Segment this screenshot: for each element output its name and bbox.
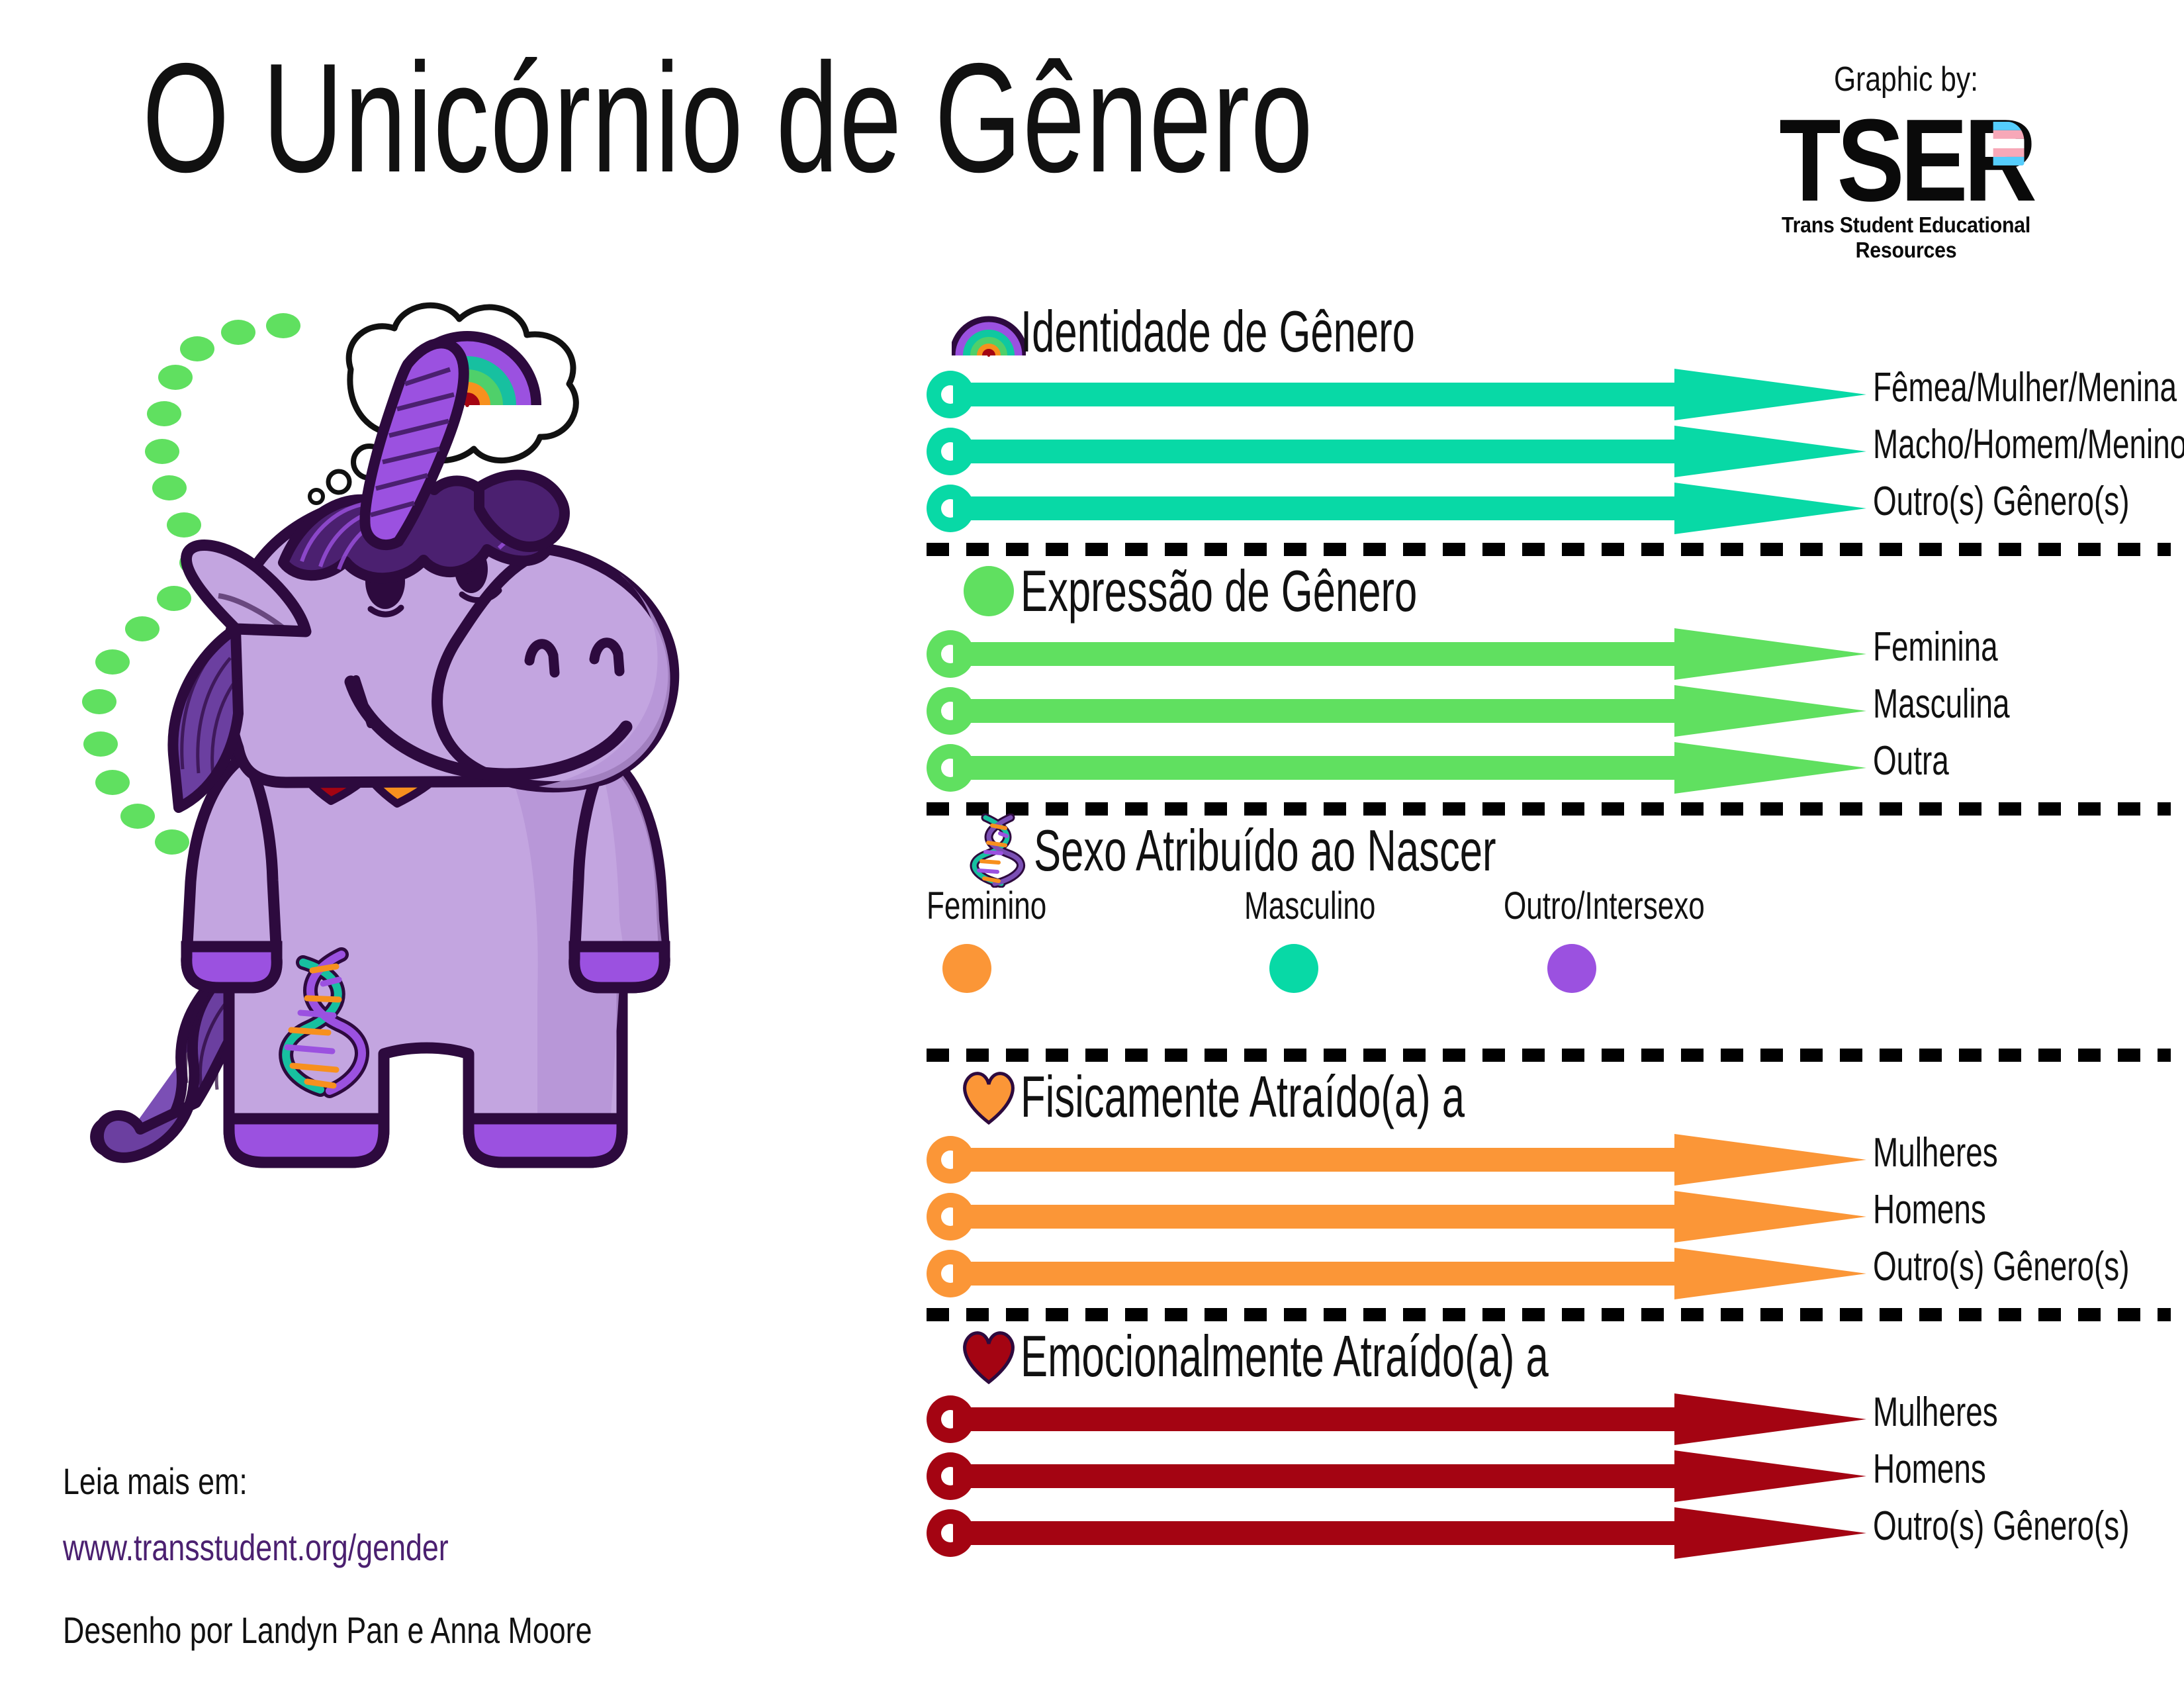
spectrum-rows: Fêmea/Mulher/Menina Macho/Homem/Menino O… [927, 366, 2171, 537]
sex-option-label: Masculino [1244, 884, 1375, 928]
sex-option-dot[interactable] [942, 944, 991, 993]
section-header: Emocionalmente Atraído(a) a [952, 1326, 2171, 1387]
orange-heart-icon [952, 1068, 1026, 1125]
spectrum-arrow[interactable] [927, 739, 1866, 796]
arrow-head-icon [1674, 1393, 1866, 1445]
spectrum-row[interactable]: Outro(s) Gênero(s) [927, 1245, 2171, 1302]
arrow-head-icon [1674, 426, 1866, 477]
section-title: Emocionalmente Atraído(a) a [1021, 1327, 1549, 1385]
graphic-by-label: Graphic by: [1765, 60, 2047, 99]
arrow-head-icon [1674, 1134, 1866, 1186]
section-sex-assigned-at-birth: Sexo Atribuído ao Nascer Feminino Mascul… [927, 820, 2171, 1043]
spectrum-arrow[interactable] [927, 1448, 1866, 1505]
section-header: Sexo Atribuído ao Nascer [966, 820, 2171, 881]
arrow-head-icon [1674, 628, 1866, 680]
sex-option-feminino[interactable]: Feminino [927, 884, 1085, 993]
spectrum-label: Homens [1873, 1446, 1986, 1493]
spectrum-arrow[interactable] [927, 1391, 1866, 1448]
arrow-shaft [953, 756, 1680, 780]
spectrum-row[interactable]: Macho/Homem/Menino [927, 423, 2171, 480]
sex-option-masculino[interactable]: Masculino [1244, 884, 1417, 993]
spectrum-arrow[interactable] [927, 1505, 1866, 1562]
sex-option-dot[interactable] [1269, 944, 1318, 993]
arrow-head-icon [1674, 1191, 1866, 1243]
spectrum-rows: Mulheres Homens Outro(s) Gênero(s) [927, 1391, 2171, 1562]
spectrum-label: Feminina [1873, 624, 1998, 671]
sex-option-dot[interactable] [1547, 944, 1596, 993]
section-title: Sexo Atribuído ao Nascer [1034, 821, 1496, 880]
section-divider [927, 802, 2171, 816]
section-title: Expressão de Gênero [1021, 562, 1417, 620]
arrow-shaft [953, 699, 1680, 723]
spectrum-row[interactable]: Homens [927, 1448, 2171, 1505]
spectrum-arrow[interactable] [927, 626, 1866, 682]
spectrum-arrow[interactable] [927, 1245, 1866, 1302]
spectrum-arrow[interactable] [927, 1131, 1866, 1188]
section-gender-expression: Expressão de Gênero Feminina Masculina [927, 561, 2171, 796]
spectrum-label: Macho/Homem/Menino [1873, 421, 2184, 468]
arrow-head-icon [1674, 483, 1866, 534]
dna-icon [966, 814, 1030, 888]
spectrum-label: Masculina [1873, 680, 2010, 727]
arrow-shaft [953, 1521, 1680, 1545]
artist-credit: Desenho por Landyn Pan e Anna Moore [63, 1609, 592, 1652]
arrow-shaft [953, 1205, 1680, 1229]
spectrum-row[interactable]: Outro(s) Gênero(s) [927, 1505, 2171, 1562]
arrow-head-icon [1674, 1507, 1866, 1559]
arrow-head-icon [1674, 742, 1866, 794]
sex-option-label: Outro/Intersexo [1504, 884, 1705, 928]
section-header: Expressão de Gênero [952, 561, 2171, 622]
spectrum-row[interactable]: Fêmea/Mulher/Menina [927, 366, 2171, 423]
rainbow-icon [952, 305, 1026, 358]
spectrum-label: Mulheres [1873, 1129, 1998, 1176]
arrow-shaft [953, 1148, 1680, 1172]
spectrum-arrow[interactable] [927, 682, 1866, 739]
section-emotionally-attracted-to: Emocionalmente Atraído(a) a Mulheres Hom… [927, 1326, 2171, 1562]
arrow-shaft [953, 642, 1680, 666]
spectrum-label: Outro(s) Gênero(s) [1873, 1503, 2130, 1550]
arrow-head-icon [1674, 1450, 1866, 1502]
trans-flag-icon [1993, 122, 2025, 165]
section-divider [927, 1048, 2171, 1062]
spectrum-arrow[interactable] [927, 1188, 1866, 1245]
spectrum-row[interactable]: Homens [927, 1188, 2171, 1245]
page-title: O Unicórnio de Gênero [142, 40, 1314, 195]
arrow-head-icon [1674, 685, 1866, 737]
spectrum-rows: Feminina Masculina Outra [927, 626, 2171, 796]
spectrum-arrow[interactable] [927, 480, 1866, 537]
sex-options-row: Feminino Masculino Outro/Intersexo [927, 884, 2171, 1043]
section-title: Identidade de Gênero [1021, 303, 1415, 361]
spectrum-label: Homens [1873, 1186, 1986, 1233]
spectrum-row[interactable]: Outro(s) Gênero(s) [927, 480, 2171, 537]
read-more-label: Leia mais em: [63, 1460, 248, 1503]
arrow-shaft [953, 1464, 1680, 1488]
transstudent-url-link[interactable]: www.transstudent.org/gender [63, 1526, 449, 1569]
arrow-head-icon [1674, 1248, 1866, 1299]
spectrum-rows: Mulheres Homens Outro(s) Gênero(s) [927, 1131, 2171, 1302]
spectrum-row[interactable]: Mulheres [927, 1391, 2171, 1448]
section-header: Fisicamente Atraído(a) a [952, 1066, 2171, 1127]
unicorn-figure [95, 343, 674, 1162]
section-header: Identidade de Gênero [952, 301, 2171, 362]
spectrum-row[interactable]: Mulheres [927, 1131, 2171, 1188]
section-divider [927, 1307, 2171, 1322]
section-physically-attracted-to: Fisicamente Atraído(a) a Mulheres Homens [927, 1066, 2171, 1302]
unicorn-svg [40, 285, 913, 1410]
unicorn-illustration [40, 285, 913, 1410]
arrow-head-icon [1674, 369, 1866, 420]
spectrum-row[interactable]: Masculina [927, 682, 2171, 739]
arrow-shaft [953, 1407, 1680, 1431]
arrow-shaft [953, 383, 1680, 406]
section-divider [927, 542, 2171, 557]
spectrum-label: Outro(s) Gênero(s) [1873, 1243, 2130, 1290]
red-heart-icon [952, 1328, 1026, 1385]
spectrum-row[interactable]: Outra [927, 739, 2171, 796]
arrow-shaft [953, 496, 1680, 520]
green-circle-icon [952, 563, 1026, 620]
spectrum-label: Outra [1873, 737, 1949, 784]
spectrum-label: Fêmea/Mulher/Menina [1873, 364, 2177, 411]
spectrum-label: Mulheres [1873, 1389, 1998, 1436]
spectrum-arrow[interactable] [927, 366, 1866, 423]
spectrum-label: Outro(s) Gênero(s) [1873, 478, 2130, 525]
arrow-shaft [953, 1262, 1680, 1286]
sex-option-label: Feminino [927, 884, 1046, 928]
arrow-shaft [953, 440, 1680, 463]
spectrum-row[interactable]: Feminina [927, 626, 2171, 682]
section-title: Fisicamente Atraído(a) a [1021, 1068, 1465, 1126]
sex-option-outro-intersexo[interactable]: Outro/Intersexo [1504, 884, 1768, 993]
tser-expansion: Trans Student Educational Resources [1748, 212, 2064, 263]
spectrum-arrow[interactable] [927, 423, 1866, 480]
tser-wordmark: TSER [1779, 101, 2033, 220]
section-gender-identity: Identidade de Gênero Fêmea/Mulher/Menina… [927, 301, 2171, 537]
tser-logo: Graphic by: TSER Trans Student Education… [1734, 60, 2078, 263]
spectrum-sections: Identidade de Gênero Fêmea/Mulher/Menina… [927, 301, 2171, 1562]
